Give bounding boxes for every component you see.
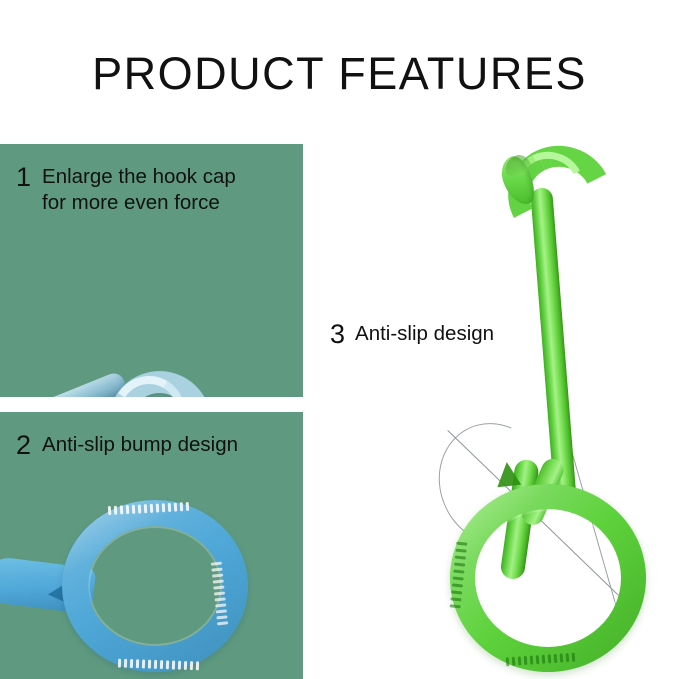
feature-2-text: Anti-slip bump design [42, 432, 238, 458]
product-features-infographic: PRODUCT FEATURES 1 Enlarge the hook cap … [0, 0, 679, 679]
hook-blue-shaft [0, 370, 129, 397]
feature-1-text: Enlarge the hook cap for more even force [42, 164, 236, 216]
feature-3-text: Anti-slip design [355, 321, 494, 347]
feature-1-caption: 1 Enlarge the hook cap for more even for… [16, 164, 236, 216]
feature-2-caption: 2 Anti-slip bump design [16, 432, 238, 458]
feature-3-caption: 3 Anti-slip design [330, 321, 494, 347]
feature-2-number: 2 [16, 432, 31, 458]
page-title: PRODUCT FEATURES [0, 48, 679, 100]
green-tool-ring [450, 484, 646, 672]
green-aligner-tool-illustration [400, 130, 679, 679]
feature-3-number: 3 [330, 321, 345, 347]
feature-1-number: 1 [16, 164, 31, 190]
